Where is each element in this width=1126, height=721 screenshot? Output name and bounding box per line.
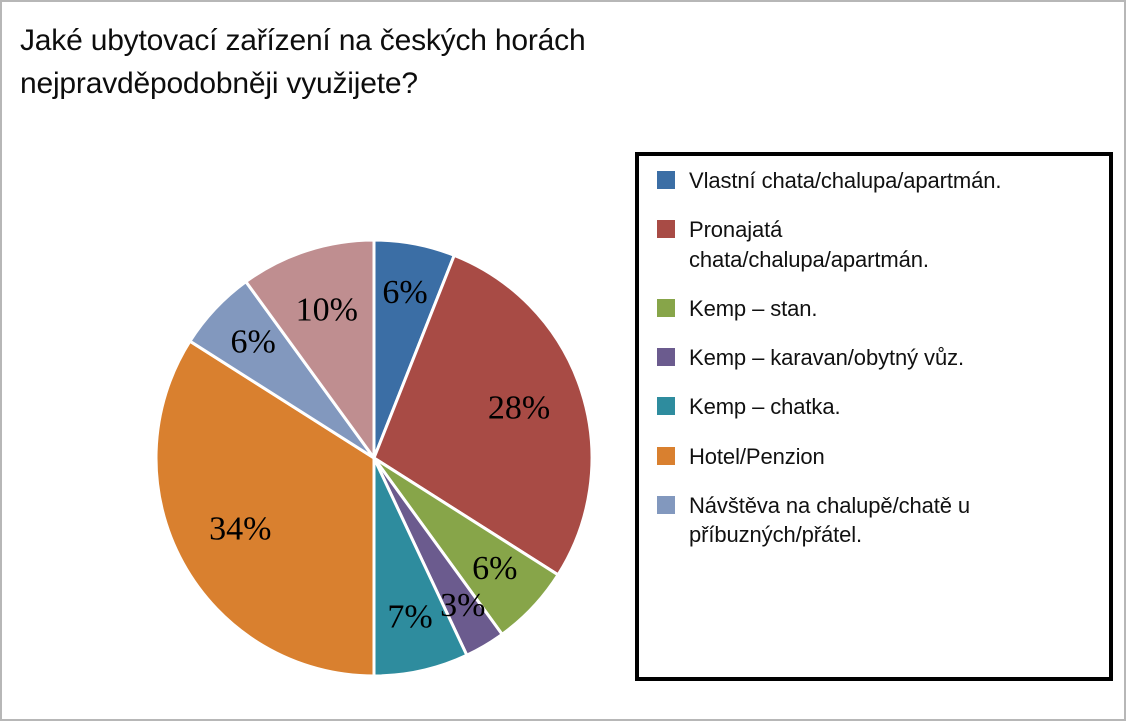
pie-slices (156, 240, 592, 676)
legend-item[interactable]: Návštěva na chalupě/chatě u příbuzných/p… (657, 491, 1103, 550)
pie-slice-label: 34% (209, 510, 271, 547)
legend-item-label: Kemp – karavan/obytný vůz. (689, 343, 964, 372)
legend-item[interactable]: Kemp – chatka. (657, 392, 1103, 421)
legend-swatch-icon (657, 496, 675, 514)
pie-slice-label: 10% (296, 292, 358, 329)
legend-swatch-icon (657, 447, 675, 465)
legend-item-label: Návštěva na chalupě/chatě u příbuzných/p… (689, 491, 970, 550)
pie-slice-label: 6% (382, 274, 427, 311)
legend-item[interactable]: Pronajatá chata/chalupa/apartmán. (657, 215, 1103, 274)
pie-slice-label: 28% (488, 390, 550, 427)
legend-swatch-icon (657, 299, 675, 317)
pie-slice-label: 6% (231, 323, 276, 360)
legend-swatch-icon (657, 397, 675, 415)
chart-title: Jaké ubytovací zařízení na českých horác… (20, 20, 800, 105)
pie-slice-label: 7% (387, 598, 432, 635)
legend-item-label: Kemp – stan. (689, 294, 817, 323)
pie-slice-label: 6% (472, 550, 517, 587)
legend-item-label: Vlastní chata/chalupa/apartmán. (689, 166, 1001, 195)
pie-chart: 6%28%6%3%7%34%6%10% (152, 236, 596, 680)
legend-swatch-icon (657, 348, 675, 366)
legend-item-label: Kemp – chatka. (689, 392, 840, 421)
legend-item[interactable]: Kemp – karavan/obytný vůz. (657, 343, 1103, 372)
chart-page: Jaké ubytovací zařízení na českých horác… (0, 0, 1126, 721)
chart-legend: Vlastní chata/chalupa/apartmán. Pronajat… (635, 152, 1113, 681)
legend-swatch-icon (657, 220, 675, 238)
legend-item[interactable]: Hotel/Penzion (657, 442, 1103, 471)
legend-swatch-icon (657, 171, 675, 189)
pie-slice-label: 3% (440, 587, 485, 624)
legend-item-label: Pronajatá chata/chalupa/apartmán. (689, 215, 929, 274)
pie-chart-svg: 6%28%6%3%7%34%6%10% (152, 236, 596, 680)
legend-item[interactable]: Kemp – stan. (657, 294, 1103, 323)
legend-item[interactable]: Vlastní chata/chalupa/apartmán. (657, 166, 1103, 195)
legend-item-label: Hotel/Penzion (689, 442, 825, 471)
